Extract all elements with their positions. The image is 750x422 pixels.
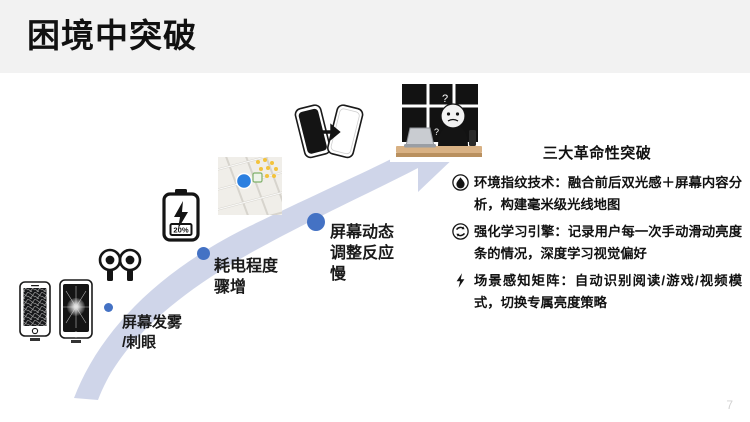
bullet-item-3: 场景感知矩阵：自动识别阅读/游戏/视频模式，切换专属亮度策略 [452, 270, 742, 313]
lightning-bolt-icon [452, 272, 469, 289]
bullet-text-1: 环境指纹技术：融合前后双光感＋屏幕内容分析，构建毫米级光线地图 [474, 172, 742, 215]
callout-label-3: 屏幕动态 调整反应 慢 [330, 222, 394, 285]
callout-dot-3 [307, 213, 325, 231]
bullet-item-2: 强化学习引擎：记录用户每一次手动滑动亮度条的情况，深度学习视觉偏好 [452, 221, 742, 264]
phone-brightness-switch [292, 98, 364, 160]
eye-strain-icon [97, 247, 143, 287]
panel-heading: 三大革命性突破 [452, 142, 742, 163]
cracked-and-glare-phones [14, 278, 106, 344]
page-number: 7 [726, 398, 733, 412]
bullet-text-2: 强化学习引擎：记录用户每一次手动滑动亮度条的情况，深度学习视觉偏好 [474, 221, 742, 264]
question-mark-glyph-2: ? [434, 127, 439, 137]
bullet-text-3: 场景感知矩阵：自动识别阅读/游戏/视频模式，切换专属亮度策略 [474, 270, 742, 313]
slide-canvas: 困境中突破 [0, 0, 750, 422]
bullet-item-1: 环境指纹技术：融合前后双光感＋屏幕内容分析，构建毫米级光线地图 [452, 172, 742, 215]
water-drop-icon [452, 174, 469, 191]
callout-dot-1 [104, 303, 113, 312]
callout-dot-2 [197, 247, 210, 260]
page-title: 困境中突破 [27, 13, 197, 59]
recycle-loop-icon [452, 223, 469, 240]
map-screenshot-thumbnail [218, 157, 282, 215]
breakthroughs-panel: 三大革命性突破 环境指纹技术：融合前后双光感＋屏幕内容分析，构建毫米级光线地图 [452, 142, 742, 319]
battery-percent-label: 20% [173, 226, 188, 235]
callout-label-2: 耗电程度 骤增 [214, 256, 278, 298]
question-mark-glyph: ? [442, 93, 448, 105]
callout-label-1: 屏幕发雾 /刺眼 [122, 313, 182, 353]
battery-low-icon: 20% [160, 188, 202, 242]
